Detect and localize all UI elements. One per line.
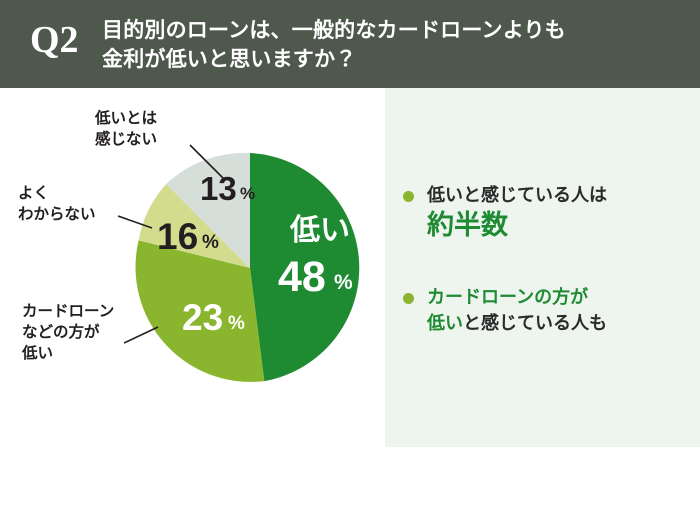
slice-label-low-value: 48 [278,253,326,301]
slice-label-low-title: 低い [289,214,350,247]
slice-label-card-loan-value: 23 [182,297,223,338]
question-number: Q2 [30,18,79,62]
leader-line-card-loan [124,327,158,343]
callout-not-low-line-2: 感じない [95,129,157,150]
header-bar: Q2 目的別のローンは、一般的なカードローンよりも 金利が低いと思いますか？ [0,0,700,88]
callout-card-loan: カードローン などの方が 低い [22,301,114,364]
question-text: 目的別のローンは、一般的なカードローンよりも 金利が低いと思いますか？ [102,16,692,74]
summary-bullet-2-line-1: カードローンの方が [427,284,693,310]
summary-bullet-1-text: 低いと感じている人は 約半数 [427,182,693,242]
summary-bullet-1-emphasis: 約半数 [427,208,693,242]
slice-label-low-unit: % [334,271,353,294]
infographic-slide: Q2 目的別のローンは、一般的なカードローンよりも 金利が低いと思いますか？ 低… [0,0,700,447]
chart-panel: 低い 48 % 23 % 16 % 13 % 低いとは 感じない よく わか [0,88,385,447]
bullet-dot-icon [403,293,414,304]
summary-bullet-2: カードローンの方が 低いと感じている人も [403,284,693,336]
summary-bullet-2-text: カードローンの方が 低いと感じている人も [427,284,693,336]
summary-bullet-2-line-2-dark: と感じている人も [463,313,607,333]
bullet-dot-icon [403,191,414,202]
question-line-2: 金利が低いと思いますか？ [102,45,692,74]
slice-label-not-low-unit: % [240,184,255,203]
slice-label-dont-know-value: 16 [157,216,198,257]
callout-dont-know: よく わからない [18,183,96,225]
question-line-1: 目的別のローンは、一般的なカードローンよりも [102,16,692,45]
callout-card-loan-line-2: などの方が [22,322,114,343]
summary-bullet-1-lead: 低いと感じている人は [427,182,693,208]
callout-card-loan-line-3: 低い [22,343,114,364]
slice-label-not-low-value: 13 [200,170,237,207]
slice-label-card-loan-unit: % [228,313,245,334]
pie-chart: 低い 48 % 23 % 16 % 13 % [0,88,385,447]
callout-dont-know-line-2: わからない [18,204,96,225]
callout-dont-know-line-1: よく [18,183,96,204]
callout-card-loan-line-1: カードローン [22,301,114,322]
callout-not-low-line-1: 低いとは [95,108,157,129]
summary-bullet-1: 低いと感じている人は 約半数 [403,182,693,242]
slice-label-dont-know-unit: % [202,232,219,253]
callout-not-low: 低いとは 感じない [95,108,157,150]
summary-bullet-2-line-2-green: 低い [427,313,463,333]
summary-panel: 低いと感じている人は 約半数 カードローンの方が 低いと感じている人も [385,88,700,447]
